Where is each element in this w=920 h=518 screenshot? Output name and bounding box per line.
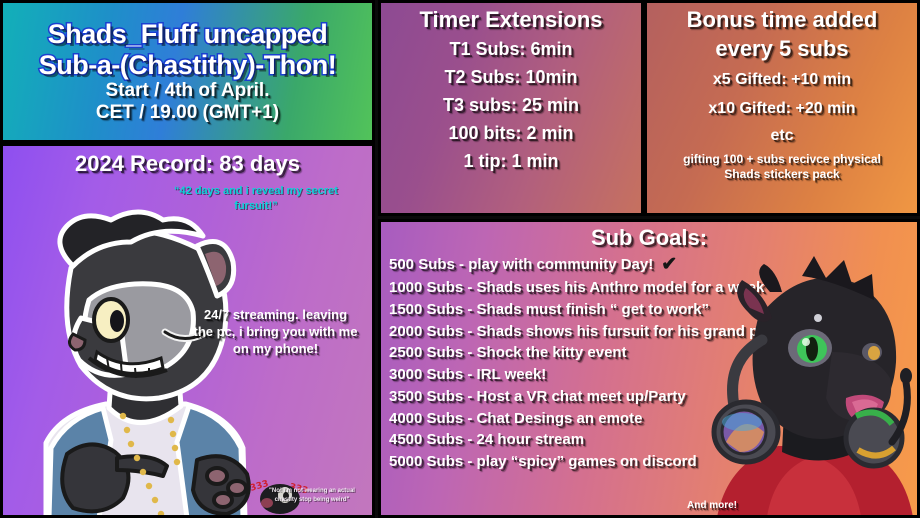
goal-row: 3000 Subs - IRL week! [381, 367, 917, 383]
chastity-disclaimer: "No! i'm not wearing an actual chastity … [258, 487, 366, 505]
record-title: 2024 Record: 83 days [3, 152, 372, 175]
goal-label: 1000 Subs - Shads uses his Anthro model … [389, 280, 764, 296]
timer-row-bits: 100 bits: 2 min [381, 124, 641, 143]
bonus-row-x10: x10 Gifted: +20 min [647, 101, 917, 118]
goal-row: 1000 Subs - Shads uses his Anthro model … [381, 280, 917, 296]
header-panel: Shads_Fluff uncapped Sub-a-(Chastithy)-T… [0, 0, 375, 143]
bonus-row-x5: x5 Gifted: +10 min [647, 72, 917, 89]
bonus-title-line1: Bonus time added [647, 8, 917, 31]
goal-row: 2000 Subs - Shads shows his fursuit for … [381, 324, 917, 340]
record-panel: 2024 Record: 83 days “42 days and i reve… [0, 143, 375, 518]
goal-label: 3000 Subs - IRL week! [389, 367, 546, 383]
bonus-time-panel: Bonus time added every 5 subs x5 Gifted:… [644, 0, 920, 216]
goal-complete-check-icon: ✔ [661, 255, 677, 274]
streaming-note: 24/7 streaming. leaving the pc, i bring … [193, 306, 358, 357]
timer-extensions-panel: Timer Extensions T1 Subs: 6min T2 Subs: … [378, 0, 644, 216]
timer-extensions-title: Timer Extensions [381, 8, 641, 31]
goal-row: 5000 Subs - play “spicy” games on discor… [381, 454, 917, 470]
sub-goals-panel: Sub Goals: 500 Subs - play with communit… [378, 219, 920, 518]
bonus-stickers-line2: Shads stickers pack [647, 168, 917, 181]
goal-label: 2500 Subs - Shock the kitty event [389, 345, 627, 361]
record-quote: “42 days and i reveal my secret fursuit!… [156, 184, 356, 214]
header-start-time: CET / 19.00 (GMT+1) [96, 103, 279, 123]
timer-row-tip: 1 tip: 1 min [381, 152, 641, 171]
header-start-date: Start / 4th of April. [106, 81, 270, 101]
timer-row-t1: T1 Subs: 6min [381, 40, 641, 59]
goal-row: 4000 Subs - Chat Desings an emote [381, 411, 917, 427]
bonus-title-line2: every 5 subs [647, 37, 917, 60]
goal-row: 1500 Subs - Shads must finish “ get to w… [381, 302, 917, 318]
timer-row-t2: T2 Subs: 10min [381, 68, 641, 87]
timer-row-t3: T3 subs: 25 min [381, 96, 641, 115]
bonus-etc: etc [647, 128, 917, 145]
goal-label: 1500 Subs - Shads must finish “ get to w… [389, 302, 709, 318]
goal-label: 3500 Subs - Host a VR chat meet up/Party [389, 389, 686, 405]
sub-goals-title: Sub Goals: [381, 226, 917, 249]
goal-label: 4500 Subs - 24 hour stream [389, 432, 584, 448]
goal-row: 4500 Subs - 24 hour stream [381, 432, 917, 448]
goal-label: 5000 Subs - play “spicy” games on discor… [389, 454, 697, 470]
goal-label: 2000 Subs - Shads shows his fursuit for … [389, 324, 803, 340]
header-title-line2: Sub-a-(Chastithy)-Thon! [39, 51, 336, 79]
goal-label: 500 Subs - play with community Day! [389, 257, 653, 273]
goal-label: 4000 Subs - Chat Desings an emote [389, 411, 642, 427]
header-title-line1: Shads_Fluff uncapped [48, 20, 328, 48]
goal-row: 2500 Subs - Shock the kitty event [381, 345, 917, 361]
bonus-stickers-line1: gifting 100 + subs recivce physical [647, 153, 917, 166]
left-character-illustration [11, 208, 266, 518]
stream-overlay-canvas: Shads_Fluff uncapped Sub-a-(Chastithy)-T… [0, 0, 920, 518]
goal-row: 500 Subs - play with community Day! ✔ [381, 255, 917, 274]
sub-goals-footer: And more! [687, 501, 737, 512]
goal-row: 3500 Subs - Host a VR chat meet up/Party [381, 389, 917, 405]
